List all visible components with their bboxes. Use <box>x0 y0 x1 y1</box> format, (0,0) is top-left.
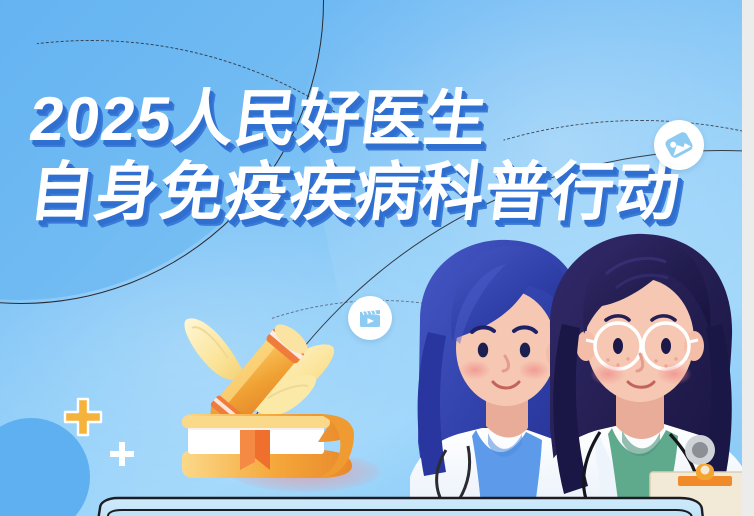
desk-illustration <box>0 486 742 516</box>
plus-gold-icon <box>62 396 104 438</box>
poster-title: 2025人民好医生 自身免疫疾病科普行动 <box>30 82 720 230</box>
book-illustration <box>178 408 358 480</box>
poster-banner: 2025人民好医生 自身免疫疾病科普行动 <box>0 0 754 516</box>
poster-canvas: 2025人民好医生 自身免疫疾病科普行动 <box>0 0 742 516</box>
doctor-right-figure <box>536 234 742 516</box>
video-icon[interactable] <box>348 296 392 340</box>
right-edge-strip <box>742 0 754 516</box>
plus-white-icon <box>108 440 136 468</box>
title-line-2: 自身免疫疾病科普行动 <box>25 154 724 230</box>
image-icon[interactable] <box>654 120 704 170</box>
doctors-illustration <box>410 228 742 516</box>
title-line-1: 2025人民好医生 <box>25 82 724 158</box>
